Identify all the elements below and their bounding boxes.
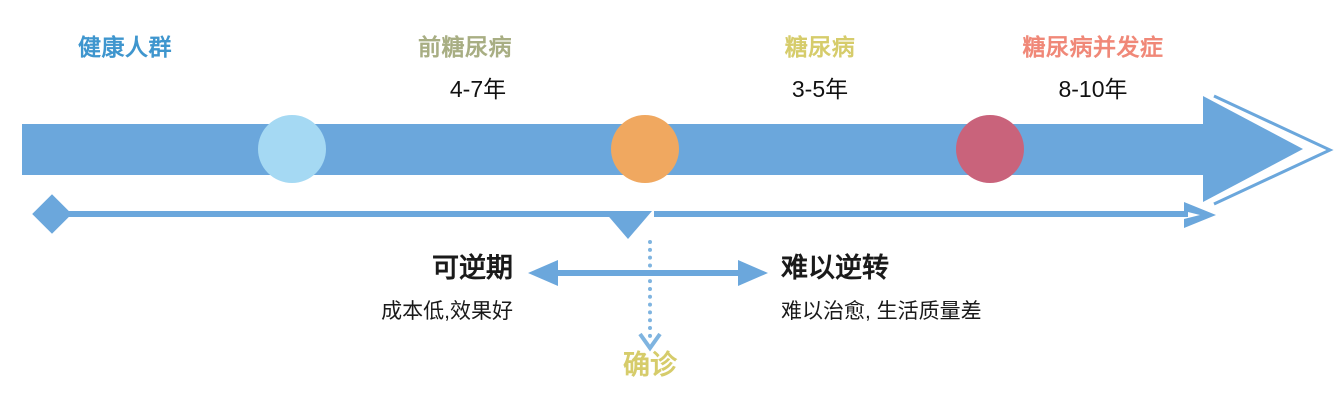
stage-node-prediabetes: [611, 115, 679, 183]
stage-label-diabetes: 糖尿病: [785, 36, 856, 59]
axis-right-arrowhead-icon: [1184, 202, 1216, 233]
stage-label-complications: 糖尿病并发症: [1023, 36, 1164, 59]
stage-label-prediabetes: 前糖尿病: [418, 36, 512, 59]
stage-node-healthy: [258, 115, 326, 183]
stage-label-healthy: 健康人群: [78, 36, 172, 59]
timeline-outline-chevron-icon: [1210, 92, 1336, 213]
diagnosis-label: 确诊: [623, 352, 677, 379]
stage-duration-diabetes: 3-5年: [792, 78, 848, 101]
stage-duration-complications: 8-10年: [1058, 78, 1127, 101]
phase-subtitle-irreversible: 难以治愈, 生活质量差: [781, 301, 982, 322]
reversibility-bidirectional-arrow: [528, 258, 768, 293]
axis-line-right: [654, 211, 1188, 217]
diabetes-progression-diagram: 健康人群 前糖尿病 4-7年 糖尿病 3-5年 糖尿病并发症 8-10年: [0, 0, 1340, 403]
stage-duration-prediabetes: 4-7年: [450, 78, 506, 101]
stage-node-diabetes: [956, 115, 1024, 183]
phase-subtitle-reversible: 成本低,效果好: [381, 301, 513, 322]
phase-title-reversible: 可逆期: [432, 255, 513, 282]
axis-down-triangle-icon: [604, 211, 652, 239]
phase-title-irreversible: 难以逆转: [781, 255, 889, 282]
axis-line-left: [62, 211, 610, 217]
